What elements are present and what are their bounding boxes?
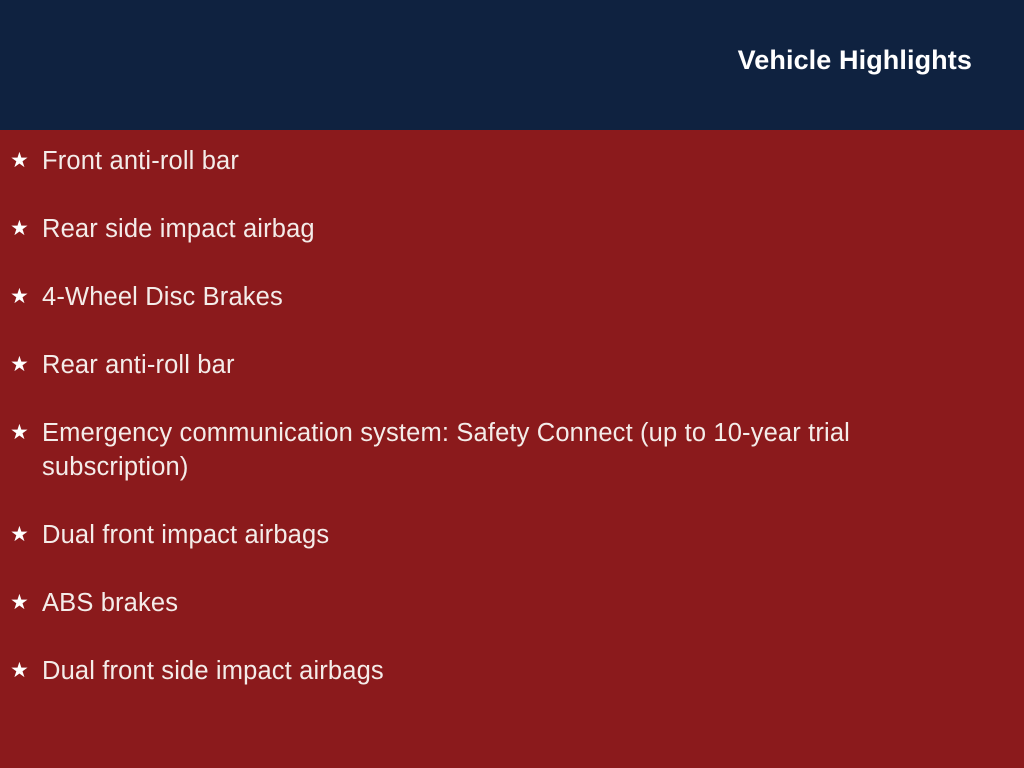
slide-header: Vehicle Highlights xyxy=(0,0,1024,130)
list-item: ★ Rear anti-roll bar xyxy=(0,348,984,382)
list-item-label: Dual front side impact airbags xyxy=(42,654,962,688)
list-item: ★ 4-Wheel Disc Brakes xyxy=(0,280,984,314)
star-bullet-icon: ★ xyxy=(10,654,30,688)
list-item-label: Emergency communication system: Safety C… xyxy=(42,416,962,484)
list-item-label: Rear side impact airbag xyxy=(42,212,962,246)
star-bullet-icon: ★ xyxy=(10,586,30,620)
list-item: ★ ABS brakes xyxy=(0,586,984,620)
list-item-label: 4-Wheel Disc Brakes xyxy=(42,280,962,314)
slide-body: ★ Front anti-roll bar ★ Rear side impact… xyxy=(0,130,1024,768)
star-bullet-icon: ★ xyxy=(10,518,30,552)
star-bullet-icon: ★ xyxy=(10,416,30,450)
list-item-label: ABS brakes xyxy=(42,586,962,620)
star-bullet-icon: ★ xyxy=(10,348,30,382)
list-item: ★ Dual front impact airbags xyxy=(0,518,984,552)
list-item-label: Rear anti-roll bar xyxy=(42,348,962,382)
list-item: ★ Front anti-roll bar xyxy=(0,144,984,178)
star-bullet-icon: ★ xyxy=(10,144,30,178)
vehicle-highlights-list: ★ Front anti-roll bar ★ Rear side impact… xyxy=(0,144,984,688)
list-item: ★ Emergency communication system: Safety… xyxy=(0,416,984,484)
page-title: Vehicle Highlights xyxy=(738,45,972,76)
slide-root: Vehicle Highlights ★ Front anti-roll bar… xyxy=(0,0,1024,768)
list-item-label: Front anti-roll bar xyxy=(42,144,962,178)
list-item: ★ Dual front side impact airbags xyxy=(0,654,984,688)
star-bullet-icon: ★ xyxy=(10,280,30,314)
list-item: ★ Rear side impact airbag xyxy=(0,212,984,246)
list-item-label: Dual front impact airbags xyxy=(42,518,962,552)
star-bullet-icon: ★ xyxy=(10,212,30,246)
